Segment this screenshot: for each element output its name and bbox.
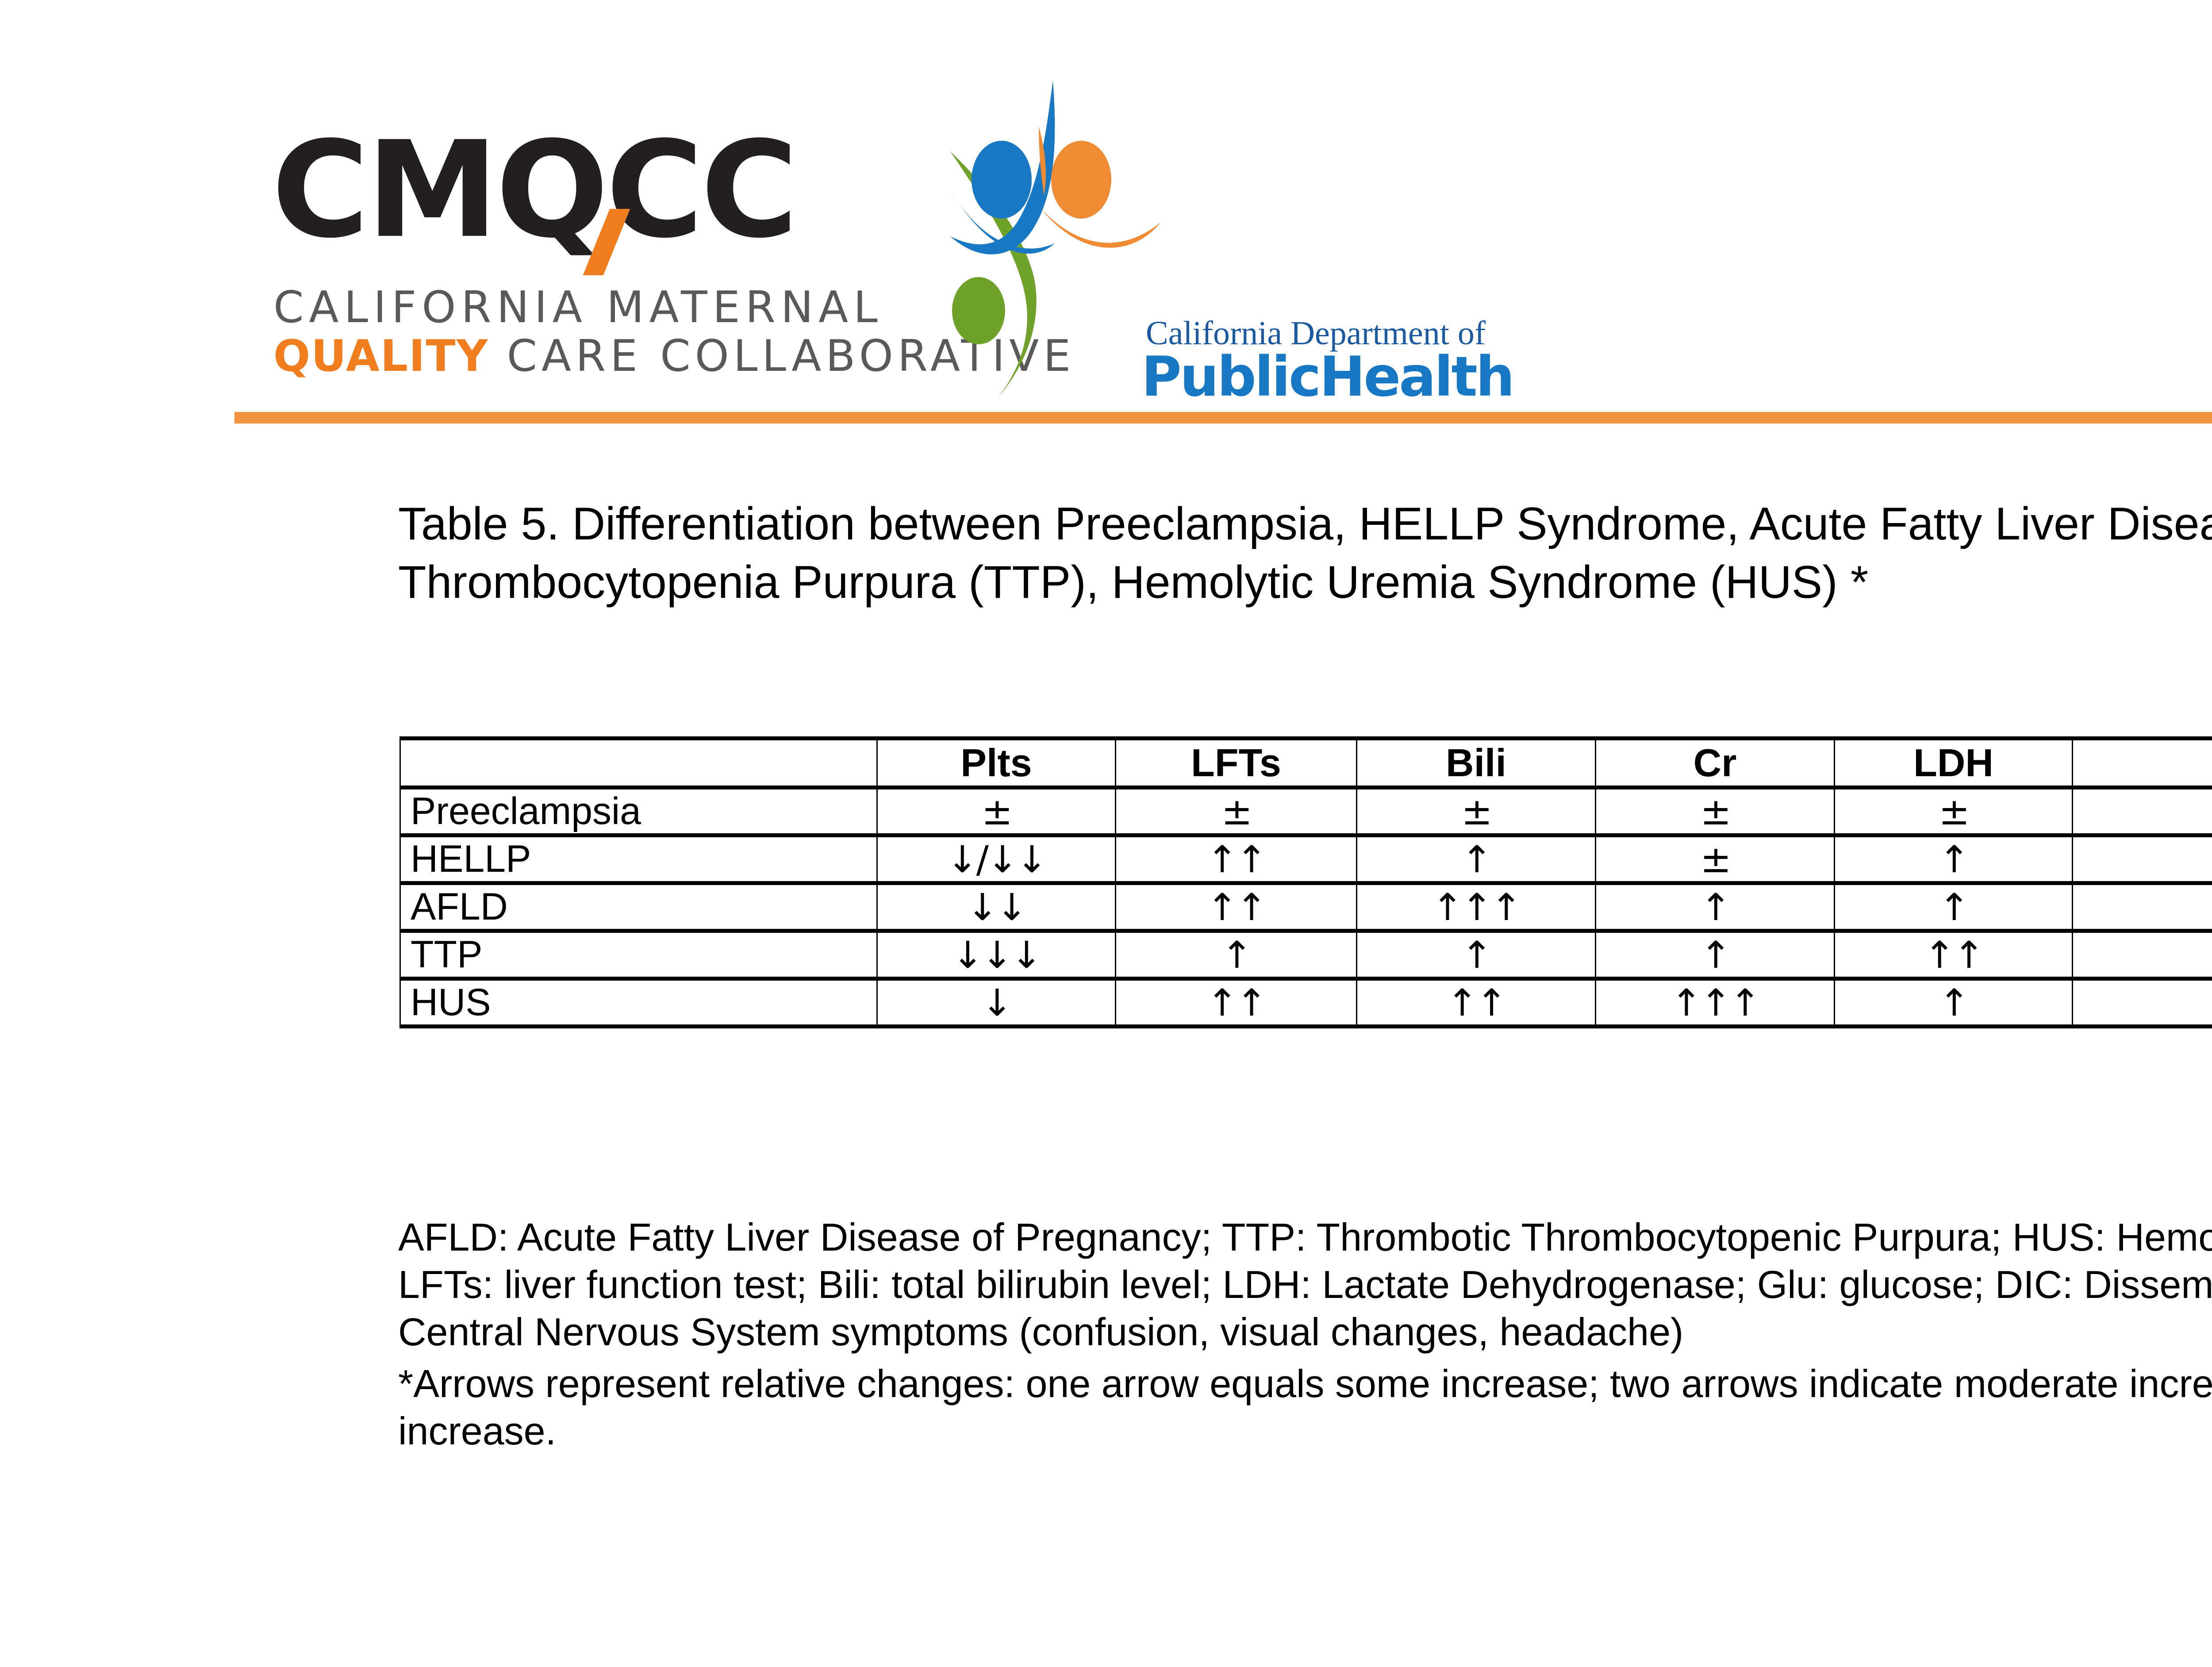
cell-hellp-ldh: ↑ bbox=[1835, 835, 2073, 883]
cdph-text-big: PublicHealth bbox=[1141, 345, 1513, 409]
cell-hus-lfts: ↑↑ bbox=[1116, 979, 1357, 1027]
table-row: HUS ↓ ↑↑ ↑↑ ↑↑↑ ↑ → ± ± bbox=[400, 979, 2212, 1027]
col-header-bili: Bili bbox=[1357, 739, 1596, 788]
cell-preeclampsia-lfts: ± bbox=[1116, 788, 1357, 835]
cell-hellp-lfts: ↑↑ bbox=[1116, 835, 1357, 883]
cell-preeclampsia-glu: → bbox=[2073, 788, 2212, 835]
cell-hellp-bili: ↑ bbox=[1357, 835, 1596, 883]
cell-ttp-cr: ↑ bbox=[1596, 931, 1835, 979]
cmqcc-tagline-line1: CALIFORNIA MATERNAL bbox=[273, 282, 883, 333]
row-label-hellp: HELLP bbox=[400, 835, 877, 883]
col-header-cr: Cr bbox=[1596, 739, 1835, 788]
header-divider-rule bbox=[234, 412, 2212, 423]
cell-afld-bili: ↑↑↑ bbox=[1357, 883, 1596, 931]
footnote-arrows-note: *Arrows represent relative changes: one … bbox=[398, 1360, 2212, 1455]
table-row: AFLD ↓↓ ↑↑ ↑↑↑ ↑ ↑ ↓↓↓ ↑↑↑ ± bbox=[400, 883, 2212, 931]
cell-afld-glu: ↓↓↓ bbox=[2073, 883, 2212, 931]
cell-preeclampsia-ldh: ± bbox=[1835, 788, 2073, 835]
cell-hus-ldh: ↑ bbox=[1835, 979, 2073, 1027]
footnote-abbreviations: AFLD: Acute Fatty Liver Disease of Pregn… bbox=[398, 1213, 2212, 1355]
table-row: TTP ↓↓↓ ↑ ↑ ↑ ↑↑ → ± ++ bbox=[400, 931, 2212, 979]
cell-hellp-plts: ↓/↓↓ bbox=[877, 835, 1116, 883]
row-label-preeclampsia: Preeclampsia bbox=[400, 788, 877, 835]
row-label-ttp: TTP bbox=[400, 931, 877, 979]
cell-afld-cr: ↑ bbox=[1596, 883, 1835, 931]
cell-ttp-ldh: ↑↑ bbox=[1835, 931, 2073, 979]
cell-ttp-bili: ↑ bbox=[1357, 931, 1596, 979]
cell-hus-bili: ↑↑ bbox=[1357, 979, 1596, 1027]
col-header-plts: Plts bbox=[877, 739, 1116, 788]
cell-afld-lfts: ↑↑ bbox=[1116, 883, 1357, 931]
page-header: CMQCC CALIFORNIA MATERNAL QUALITY CARE C… bbox=[0, 0, 2212, 425]
cmqcc-tagline-quality: QUALITY bbox=[273, 331, 488, 381]
table-row: Preeclampsia ± ± ± ± ± → ± ± bbox=[400, 788, 2212, 835]
cell-preeclampsia-cr: ± bbox=[1596, 788, 1835, 835]
cell-ttp-glu: → bbox=[2073, 931, 2212, 979]
cell-hus-cr: ↑↑↑ bbox=[1596, 979, 1835, 1027]
table-title: Table 5. Differentiation between Preecla… bbox=[398, 495, 2212, 612]
cmqcc-logo: CMQCC CALIFORNIA MATERNAL QUALITY CARE C… bbox=[265, 111, 849, 394]
col-header-glu: Glu bbox=[2073, 739, 2212, 788]
cell-afld-plts: ↓↓ bbox=[877, 883, 1116, 931]
cell-hus-plts: ↓ bbox=[877, 979, 1116, 1027]
cell-preeclampsia-plts: ± bbox=[877, 788, 1116, 835]
cmqcc-wordmark: CMQCC bbox=[272, 124, 795, 257]
col-header-ldh: LDH bbox=[1835, 739, 2073, 788]
cell-afld-ldh: ↑ bbox=[1835, 883, 2073, 931]
cell-hellp-cr: ± bbox=[1596, 835, 1835, 883]
table-footnotes: AFLD: Acute Fatty Liver Disease of Pregn… bbox=[398, 1213, 2212, 1455]
differentiation-table: Plts LFTs Bili Cr LDH Glu DIC CNS Preecl… bbox=[399, 736, 2212, 1028]
cell-ttp-lfts: ↑ bbox=[1116, 931, 1357, 979]
cell-hus-glu: → bbox=[2073, 979, 2212, 1027]
cdph-logo: California Department of PublicHealth bbox=[929, 66, 1517, 403]
table-header-row: Plts LFTs Bili Cr LDH Glu DIC CNS bbox=[400, 739, 2212, 788]
cell-preeclampsia-bili: ± bbox=[1357, 788, 1596, 835]
cell-hellp-glu: → bbox=[2073, 835, 2212, 883]
table-row: HELLP ↓/↓↓ ↑↑ ↑ ± ↑ → ± ± bbox=[400, 835, 2212, 883]
col-header-blank bbox=[400, 739, 877, 788]
row-label-afld: AFLD bbox=[400, 883, 877, 931]
row-label-hus: HUS bbox=[400, 979, 877, 1027]
cell-ttp-plts: ↓↓↓ bbox=[877, 931, 1116, 979]
col-header-lfts: LFTs bbox=[1116, 739, 1357, 788]
